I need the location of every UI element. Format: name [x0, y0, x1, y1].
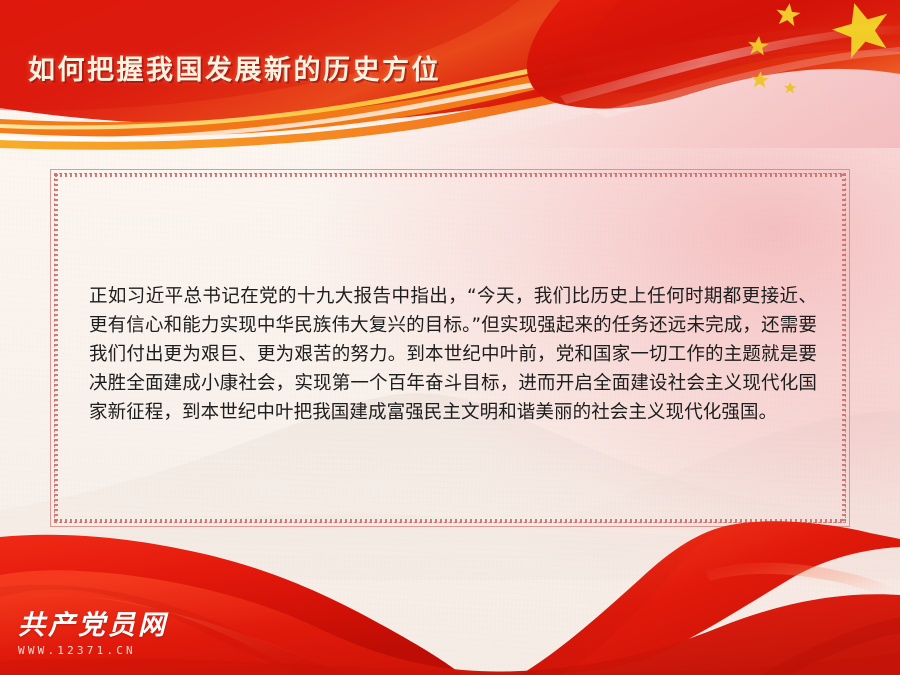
- site-logo-url: WWW.12371.CN: [18, 644, 198, 657]
- frame-ornament-top: [55, 173, 845, 177]
- poster-canvas: 如何把握我国发展新的历史方位 正如习近平总书记在党的十九大报告中指出，“今天，我…: [0, 0, 900, 675]
- page-title: 如何把握我国发展新的历史方位: [28, 48, 441, 87]
- frame-ornament-right: [842, 174, 846, 522]
- frame-ornament-left: [54, 174, 58, 522]
- content-frame-inner: 正如习近平总书记在党的十九大报告中指出，“今天，我们比历史上任何时期都更接近、更…: [54, 173, 846, 523]
- site-logo-wordmark: 共产党员网: [18, 612, 198, 640]
- content-frame: 正如习近平总书记在党的十九大报告中指出，“今天，我们比历史上任何时期都更接近、更…: [50, 169, 850, 527]
- site-logo: 共产党员网 WWW.12371.CN: [18, 612, 198, 657]
- body-paragraph: 正如习近平总书记在党的十九大报告中指出，“今天，我们比历史上任何时期都更接近、更…: [89, 282, 817, 427]
